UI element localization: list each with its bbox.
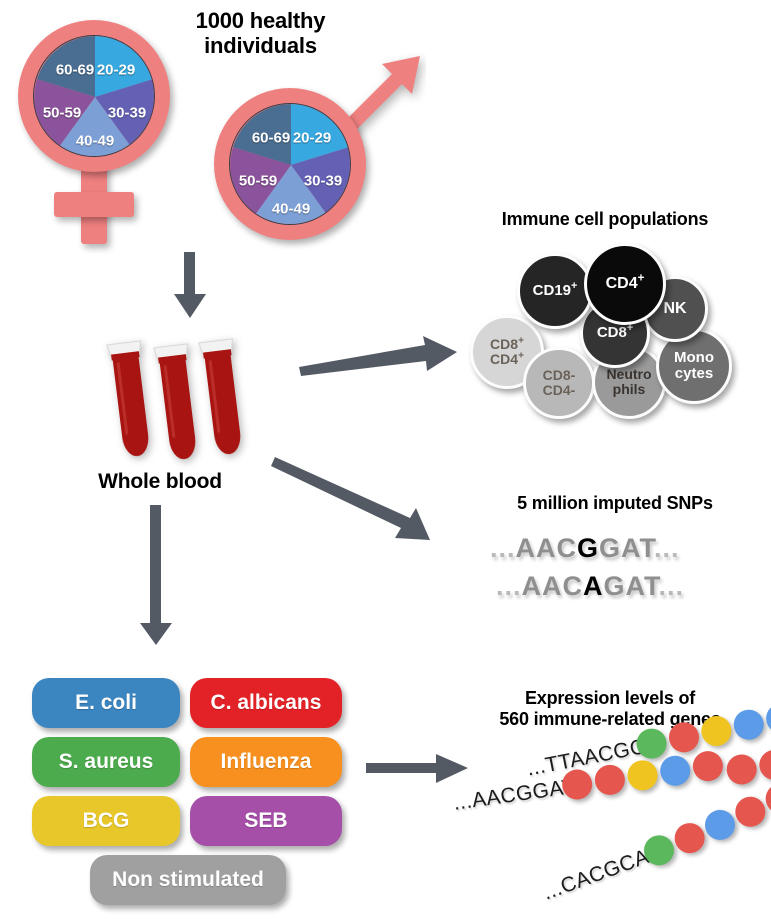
blood-tube-1 [103, 335, 158, 466]
stimulus-bcg-label: BCG [83, 809, 130, 833]
cell-monocytes-label: Monocytes [674, 350, 714, 381]
female-symbol: 20-29 30-39 40-49 50-59 60-69 [8, 12, 188, 247]
whole-blood-label: Whole blood [80, 470, 240, 494]
female-pie-label-60-69: 60-69 [56, 62, 94, 79]
snp-sequence-block: ...AACGGAT... ...AACAGAT... [490, 525, 750, 620]
stimulus-s-aureus-label: S. aureus [59, 750, 154, 774]
stimulus-c-albicans-label: C. albicans [211, 691, 322, 715]
snp-1-left: AAC [516, 533, 578, 563]
blood-tube-3 [195, 333, 250, 464]
female-stem-horizontal [54, 192, 134, 217]
cell-neutrophils-label: Neutrophils [606, 367, 651, 396]
immune-title: Immune cell populations [450, 209, 760, 230]
snp-2-suffix: ... [659, 571, 685, 601]
female-pie-label-40-49: 40-49 [76, 133, 114, 150]
cohort-heading: 1000 healthy individuals [168, 8, 353, 59]
bead [658, 754, 692, 788]
cell-cd8pos-cd4pos-label: CD8+CD4+ [490, 337, 524, 366]
male-pie-label-20-29: 20-29 [293, 130, 331, 147]
whole-blood-group [95, 333, 255, 463]
snp-1-right: GAT [599, 533, 654, 563]
female-age-pie: 20-29 30-39 40-49 50-59 60-69 [33, 35, 155, 157]
male-pie-label-40-49: 40-49 [272, 201, 310, 218]
bead [670, 819, 708, 857]
female-pie-label-30-39: 30-39 [108, 105, 146, 122]
female-pie-label-20-29: 20-29 [97, 62, 135, 79]
cell-cd8neg-cd4neg-label: CD8-CD4- [543, 368, 576, 397]
bead [691, 749, 725, 783]
snps-title: 5 million imputed SNPs [470, 493, 760, 514]
arrow-cohort-to-blood [170, 252, 210, 320]
arrow-blood-to-immune [297, 330, 467, 390]
stimulus-s-aureus[interactable]: S. aureus [32, 737, 180, 787]
snp-1-variant: G [577, 533, 599, 563]
arrow-blood-to-snps [250, 440, 480, 550]
male-pie-label-60-69: 60-69 [252, 130, 290, 147]
bead [701, 806, 739, 844]
stimulus-influenza-label: Influenza [220, 750, 311, 774]
male-symbol: 20-29 30-39 40-49 50-59 60-69 [208, 52, 423, 252]
immune-cell-cluster: CD8+CD4+ CD8-CD4- Neutrophils Monocytes … [460, 240, 760, 415]
figure-canvas: 1000 healthy individuals 20-29 30-39 40-… [0, 0, 771, 922]
cell-cd8-pos-label: CD8+ [597, 325, 633, 341]
cell-nk-label: NK [663, 301, 686, 318]
cell-cd19-pos-label: CD19+ [533, 283, 578, 299]
arrow-blood-to-stimuli [131, 505, 181, 645]
female-pie-label-50-59: 50-59 [43, 105, 81, 122]
bead [757, 748, 771, 782]
cell-cd4-pos-label: CD4+ [606, 276, 645, 293]
male-age-pie: 20-29 30-39 40-49 50-59 60-69 [229, 103, 351, 225]
expression-strand-2-text: ...AACGGAT [452, 775, 577, 816]
stimuli-panel: E. coli C. albicans S. aureus Influenza … [32, 678, 342, 898]
stimulus-bcg[interactable]: BCG [32, 796, 180, 846]
snp-2-right: GAT [604, 571, 659, 601]
stimulus-seb[interactable]: SEB [190, 796, 342, 846]
cell-cd8neg-cd4neg: CD8-CD4- [523, 347, 595, 419]
stimulus-e-coli[interactable]: E. coli [32, 678, 180, 728]
snp-2-left: AAC [522, 571, 584, 601]
snp-1-suffix: ... [654, 533, 680, 563]
snp-sequence-row-1: ...AACGGAT... [490, 533, 680, 564]
snp-sequence-row-2: ...AACAGAT... [496, 571, 684, 602]
expression-strands: ...TTAACGG ...AACGGAT ...CACGCAA [455, 740, 771, 915]
cell-cd19-pos: CD19+ [517, 253, 593, 329]
male-pie-label-30-39: 30-39 [304, 173, 342, 190]
bead [725, 753, 759, 787]
snp-1-prefix: ... [490, 533, 516, 563]
bead [626, 758, 660, 792]
stimulus-seb-label: SEB [244, 809, 287, 833]
cell-cd4-pos: CD4+ [584, 243, 666, 325]
stimulus-non-stimulated-label: Non stimulated [112, 868, 264, 892]
stimulus-c-albicans[interactable]: C. albicans [190, 678, 342, 728]
snp-2-prefix: ... [496, 571, 522, 601]
bead [731, 793, 769, 831]
snp-2-variant: A [583, 571, 604, 601]
stimulus-influenza[interactable]: Influenza [190, 737, 342, 787]
stimulus-non-stimulated[interactable]: Non stimulated [90, 855, 286, 905]
stimulus-e-coli-label: E. coli [75, 691, 137, 715]
cohort-heading-line1: 1000 healthy [168, 8, 353, 33]
male-pie-label-50-59: 50-59 [239, 173, 277, 190]
expression-title-line1: Expression levels of [455, 688, 765, 709]
